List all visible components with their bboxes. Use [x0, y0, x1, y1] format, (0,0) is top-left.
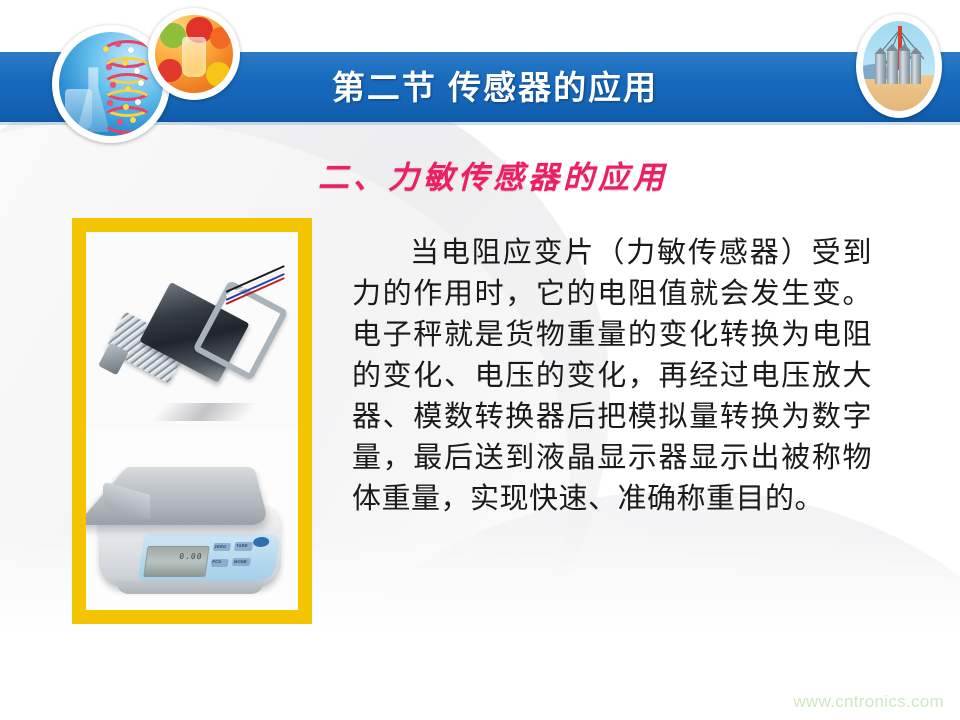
scale-lcd-display: 0.00 [144, 546, 210, 577]
body-paragraph: 当电阻应变片（力敏传感器）受到力的作用时，它的电阻值就会发生变。电子秤就是货物重… [352, 232, 872, 519]
silo-tank [875, 53, 886, 84]
photo-frame-inner: 0.00 ZERO TARE PCS MODE [86, 232, 298, 610]
lemon-icon [206, 62, 231, 87]
tomato-icon [158, 59, 181, 82]
slide-canvas: 第二节 传感器的应用 [0, 0, 960, 720]
grain-silo-badge-icon [856, 14, 942, 118]
grain-silo-badge-image [863, 21, 935, 111]
silo-tank [887, 50, 898, 84]
scale-button-label-zero: ZERO [214, 544, 227, 549]
photo-frame: 0.00 ZERO TARE PCS MODE [72, 218, 312, 624]
scale-foot-base [116, 581, 264, 594]
scale-button-label-tare: TARE [236, 543, 248, 548]
scale-button-label-pcs: PCS [212, 559, 222, 564]
fruit-juice-badge-icon [148, 8, 240, 100]
section-subtitle: 二、力敏传感器的应用 [268, 152, 718, 197]
silo-tank [911, 53, 922, 84]
load-cell-sensor-photo [86, 232, 298, 429]
juice-glass-icon [182, 37, 207, 78]
silo-tank [899, 50, 910, 84]
sensor-drop-shadow [151, 403, 258, 421]
scale-lcd-value: 0.00 [179, 552, 204, 561]
scale-brand-logo [252, 537, 270, 547]
footer-watermark: www.cntronics.com [793, 692, 944, 712]
scale-button-label-mode: MODE [234, 558, 248, 563]
scale-control-panel: 0.00 ZERO TARE PCS MODE [138, 534, 280, 581]
fruit-juice-badge-image [155, 15, 233, 93]
page-title: 第二节 传感器的应用 [260, 60, 730, 116]
electronic-scale-photo: 0.00 ZERO TARE PCS MODE [86, 429, 298, 610]
dna-helix-icon [101, 38, 149, 130]
